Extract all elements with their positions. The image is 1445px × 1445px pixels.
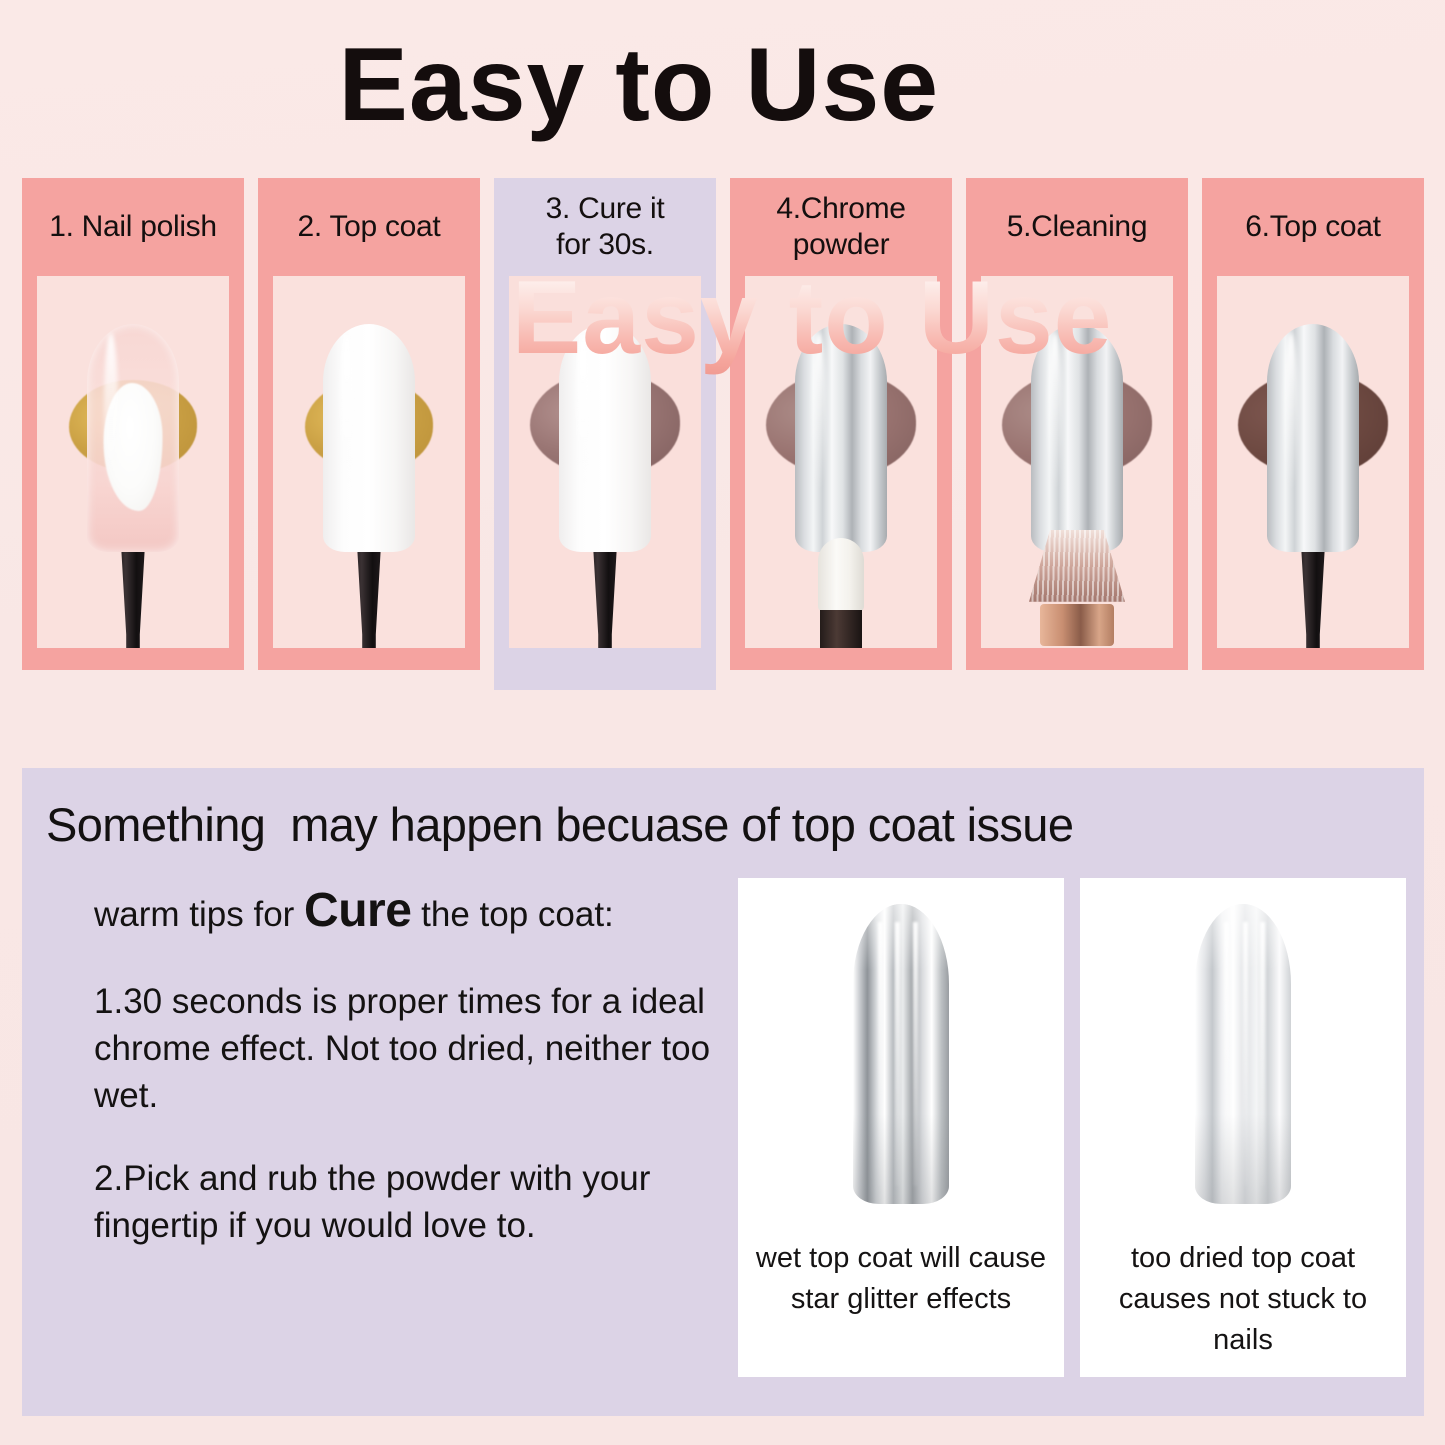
nail-tip-white bbox=[323, 324, 415, 552]
tips-lead-after: the top coat: bbox=[411, 895, 613, 934]
steps-row: 1. Nail polish 2. Top coat bbox=[22, 178, 1424, 690]
long-nail-pearly-chrome bbox=[1195, 904, 1291, 1204]
polish-brush-black-1 bbox=[116, 552, 150, 648]
polish-brush-black-2 bbox=[352, 552, 386, 648]
nail-tip-chrome-6 bbox=[1267, 324, 1359, 552]
comparison-cards: wet top coat will cause star glitter eff… bbox=[738, 878, 1406, 1377]
nail-gloss bbox=[340, 333, 355, 493]
title-shadow: Easy to Use bbox=[339, 25, 940, 145]
step-card-5: 5.Cleaning bbox=[966, 178, 1188, 670]
step-card-4: 4.Chrome powder bbox=[730, 178, 952, 670]
silicone-handle bbox=[820, 610, 862, 648]
infographic-page: Easy to Use Easy to Use 1. Nail polish bbox=[0, 0, 1445, 1445]
step-label-6: 6.Top coat bbox=[1202, 178, 1424, 276]
tips-emphasis-cure: Cure bbox=[304, 884, 411, 937]
nail-tip-clear bbox=[87, 324, 179, 552]
nail-shading bbox=[1195, 904, 1291, 1204]
comparison-card-dried: too dried top coat causes not stuck to n… bbox=[1080, 878, 1406, 1377]
page-title: Easy to Use Easy to Use bbox=[0, 18, 1445, 148]
tips-lead-before: warm tips for bbox=[94, 895, 304, 934]
silicone-tip-icon bbox=[818, 538, 864, 612]
brush-cap-icon bbox=[588, 552, 622, 648]
step-card-1: 1. Nail polish bbox=[22, 178, 244, 670]
brush-bristles-icon bbox=[1029, 530, 1125, 608]
warning-section: Something may happen becuase of top coat… bbox=[22, 768, 1424, 1416]
step-label-1: 1. Nail polish bbox=[22, 178, 244, 276]
nail-gloss bbox=[104, 333, 119, 493]
rose-gold-fan-brush bbox=[1029, 530, 1125, 648]
brush-cap-icon bbox=[116, 552, 150, 648]
step-photo-1 bbox=[37, 276, 229, 648]
warning-heading: Something may happen becuase of top coat… bbox=[46, 796, 1406, 854]
polish-brush-black-6 bbox=[1296, 552, 1330, 648]
card-photo-dried bbox=[1080, 878, 1406, 1230]
card-caption-wet: wet top coat will cause star glitter eff… bbox=[738, 1230, 1064, 1320]
step-card-2: 2. Top coat bbox=[258, 178, 480, 670]
warm-tips-block: warm tips for Cure the top coat: 1.30 se… bbox=[94, 888, 724, 1285]
comparison-card-wet: wet top coat will cause star glitter eff… bbox=[738, 878, 1064, 1377]
tip-paragraph-2: 2.Pick and rub the powder with your fing… bbox=[94, 1155, 724, 1249]
card-caption-dried: too dried top coat causes not stuck to n… bbox=[1080, 1230, 1406, 1361]
long-nail-mirror-chrome bbox=[853, 904, 949, 1204]
polish-brush-black-3 bbox=[588, 552, 622, 648]
title-face: Easy to Use bbox=[512, 260, 1113, 376]
tips-lead-line: warm tips for Cure the top coat: bbox=[94, 888, 724, 938]
step-photo-6 bbox=[1217, 276, 1409, 648]
card-photo-wet bbox=[738, 878, 1064, 1230]
step-photo-2 bbox=[273, 276, 465, 648]
step-card-6: 6.Top coat bbox=[1202, 178, 1424, 670]
step-card-3: 3. Cure it for 30s. bbox=[494, 178, 716, 690]
brush-cap-icon bbox=[352, 552, 386, 648]
tip-paragraph-1: 1.30 seconds is proper times for a ideal… bbox=[94, 978, 724, 1119]
silicone-applicator bbox=[818, 538, 864, 648]
step-label-2: 2. Top coat bbox=[258, 178, 480, 276]
brush-cap-icon bbox=[1296, 552, 1330, 648]
brush-ferrule bbox=[1040, 604, 1114, 646]
nail-gloss bbox=[1284, 333, 1299, 493]
nail-shading bbox=[853, 904, 949, 1204]
